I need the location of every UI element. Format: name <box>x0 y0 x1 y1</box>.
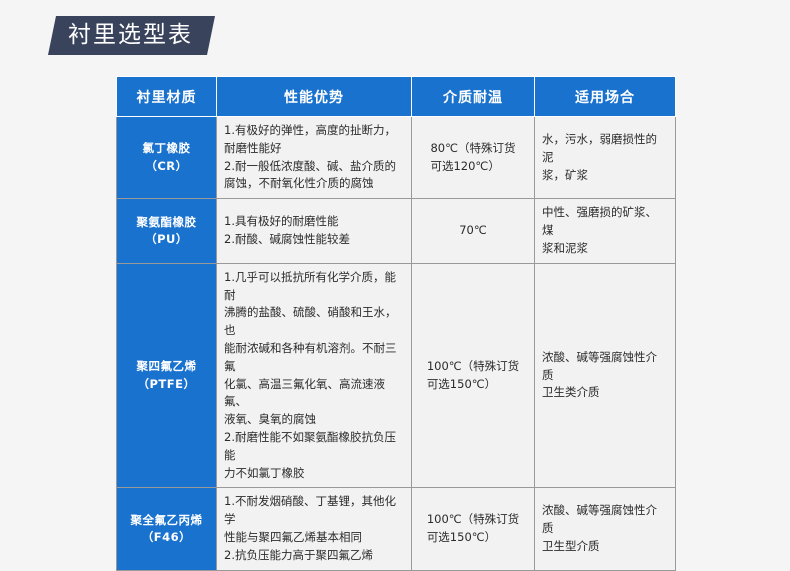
column-header-performance: 性能优势 <box>217 77 412 117</box>
text-line: 腐蚀，不耐氧化性介质的腐蚀 <box>224 175 404 193</box>
text-line: 可选150℃） <box>427 376 519 394</box>
cell-temperature: 100℃（特殊订货可选150℃） <box>412 263 535 488</box>
cell-usage: 浓酸、碱等强腐蚀性介质卫生型介质 <box>535 488 676 570</box>
column-header-material: 衬里材质 <box>117 77 217 117</box>
text-line: 中性、强磨损的矿浆、煤 <box>542 204 668 240</box>
material-name: 氯丁橡胶 <box>143 141 191 155</box>
text-line: 浆，矿浆 <box>542 167 668 185</box>
material-code: （PTFE） <box>124 376 209 393</box>
cell-performance: 1.几乎可以抵抗所有化学介质，能耐沸腾的盐酸、硫酸、硝酸和王水，也能耐浓碱和各种… <box>217 263 412 488</box>
text-line: 2.耐一般低浓度酸、碱、盐介质的 <box>224 158 404 176</box>
cell-temperature: 70℃ <box>412 199 535 263</box>
text-line: 卫生型介质 <box>542 538 668 556</box>
cell-temperature: 100℃（特殊订货可选150℃） <box>412 488 535 570</box>
text-line: 80℃（特殊订货 <box>430 140 515 158</box>
text-line: 100℃（特殊订货 <box>427 358 519 376</box>
material-code: （F46） <box>124 529 209 546</box>
text-line: 浓酸、碱等强腐蚀性介质 <box>542 502 668 538</box>
page-title-banner: 衬里选型表 <box>48 16 215 55</box>
text-line: 1.几乎可以抵抗所有化学介质，能耐 <box>224 269 404 305</box>
text-line: 70℃ <box>459 222 487 240</box>
text-line: 1.具有极好的耐磨性能 <box>224 213 404 231</box>
column-header-temperature: 介质耐温 <box>412 77 535 117</box>
text-line: 能耐浓碱和各种有机溶剂。不耐三氟 <box>224 340 404 376</box>
material-name: 聚全氟乙丙烯 <box>131 513 203 527</box>
cell-usage: 水，污水，弱磨损性的泥浆，矿浆 <box>535 117 676 199</box>
cell-material-name: 聚全氟乙丙烯 （F46） <box>117 488 217 570</box>
cell-temperature: 80℃（特殊订货可选120℃） <box>412 117 535 199</box>
cell-performance: 1.具有极好的耐磨性能2.耐酸、碱腐蚀性能较差 <box>217 199 412 263</box>
table-row: 聚全氟乙丙烯 （F46） 1.不耐发烟硝酸、丁基锂，其他化学性能与聚四氟乙烯基本… <box>117 488 676 570</box>
text-line: 100℃（特殊订货 <box>427 511 519 529</box>
text-line: 可选120℃） <box>430 158 515 176</box>
cell-usage: 中性、强磨损的矿浆、煤浆和泥浆 <box>535 199 676 263</box>
table-header: 衬里材质 性能优势 介质耐温 适用场合 <box>117 77 676 117</box>
lining-selection-table: 衬里材质 性能优势 介质耐温 适用场合 氯丁橡胶 （CR） 1.有极好的弹性，高… <box>116 76 676 571</box>
text-line: 卫生类介质 <box>542 384 668 402</box>
text-line: 沸腾的盐酸、硫酸、硝酸和王水，也 <box>224 304 404 340</box>
table-row: 氯丁橡胶 （CR） 1.有极好的弹性，高度的扯断力，耐磨性能好2.耐一般低浓度酸… <box>117 117 676 199</box>
text-line: 2.耐酸、碱腐蚀性能较差 <box>224 231 404 249</box>
text-line: 性能与聚四氟乙烯基本相同 <box>224 529 404 547</box>
table-body: 氯丁橡胶 （CR） 1.有极好的弹性，高度的扯断力，耐磨性能好2.耐一般低浓度酸… <box>117 117 676 571</box>
text-line: 可选150℃） <box>427 529 519 547</box>
text-line: 化氯、高温三氟化氧、高流速液氟、 <box>224 376 404 412</box>
cell-performance: 1.不耐发烟硝酸、丁基锂，其他化学性能与聚四氟乙烯基本相同2.抗负压能力高于聚四… <box>217 488 412 570</box>
text-line: 2.抗负压能力高于聚四氟乙烯 <box>224 547 404 565</box>
material-name: 聚氨酯橡胶 <box>137 215 197 229</box>
table-row: 聚氨酯橡胶 （PU） 1.具有极好的耐磨性能2.耐酸、碱腐蚀性能较差 70℃ 中… <box>117 199 676 263</box>
text-line: 1.不耐发烟硝酸、丁基锂，其他化学 <box>224 493 404 529</box>
text-line: 液氧、臭氧的腐蚀 <box>224 411 404 429</box>
cell-material-name: 聚四氟乙烯 （PTFE） <box>117 263 217 488</box>
text-line: 2.耐磨性能不如聚氨酯橡胶抗负压能 <box>224 429 404 465</box>
cell-material-name: 氯丁橡胶 （CR） <box>117 117 217 199</box>
table-row: 聚四氟乙烯 （PTFE） 1.几乎可以抵抗所有化学介质，能耐沸腾的盐酸、硫酸、硝… <box>117 263 676 488</box>
cell-usage: 浓酸、碱等强腐蚀性介质卫生类介质 <box>535 263 676 488</box>
text-line: 浆和泥浆 <box>542 240 668 258</box>
text-line: 1.有极好的弹性，高度的扯断力， <box>224 122 404 140</box>
page-title: 衬里选型表 <box>68 24 193 47</box>
material-name: 聚四氟乙烯 <box>137 359 197 373</box>
text-line: 耐磨性能好 <box>224 140 404 158</box>
cell-performance: 1.有极好的弹性，高度的扯断力，耐磨性能好2.耐一般低浓度酸、碱、盐介质的腐蚀，… <box>217 117 412 199</box>
table-header-row: 衬里材质 性能优势 介质耐温 适用场合 <box>117 77 676 117</box>
text-line: 浓酸、碱等强腐蚀性介质 <box>542 349 668 385</box>
text-line: 力不如氯丁橡胶 <box>224 465 404 483</box>
material-code: （CR） <box>124 158 209 175</box>
material-code: （PU） <box>124 231 209 248</box>
cell-material-name: 聚氨酯橡胶 （PU） <box>117 199 217 263</box>
column-header-usage: 适用场合 <box>535 77 676 117</box>
text-line: 水，污水，弱磨损性的泥 <box>542 131 668 167</box>
